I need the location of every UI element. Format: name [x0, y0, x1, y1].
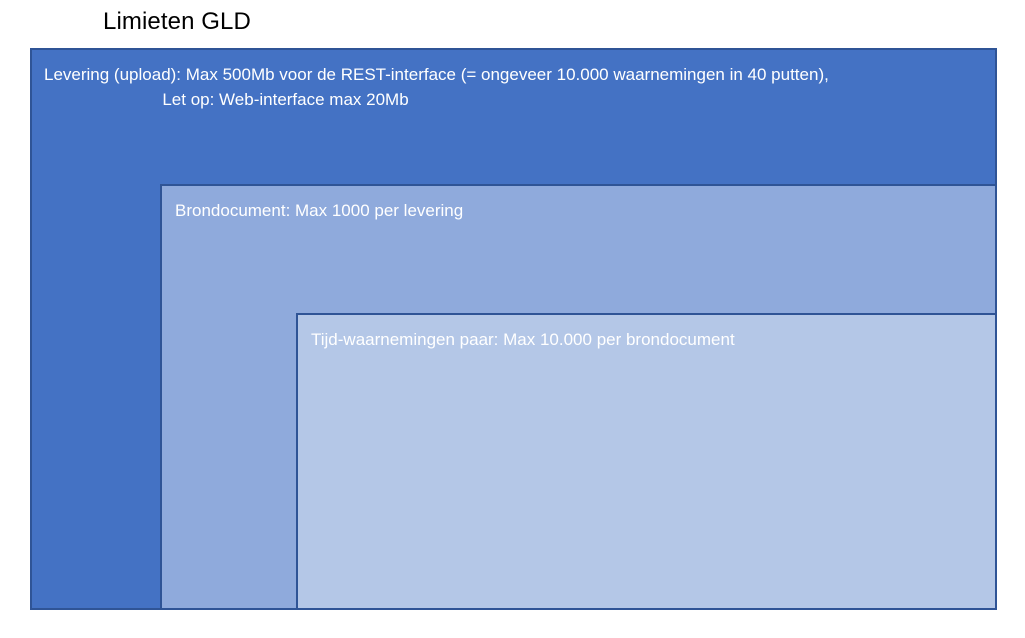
diagram-box-brondocument-label: Brondocument: Max 1000 per levering — [162, 198, 995, 223]
diagram-box-tijd-waarnemingen-paar[interactable]: Tijd-waarnemingen paar: Max 10.000 per b… — [296, 313, 997, 610]
page-title: Limieten GLD — [103, 6, 251, 38]
diagram-box-levering-label-line-2: Let op: Web-interface max 20Mb — [44, 87, 983, 112]
slide-canvas: Limieten GLD Levering (upload): Max 500M… — [0, 0, 1025, 638]
diagram-box-tijd-waarnemingen-paar-label: Tijd-waarnemingen paar: Max 10.000 per b… — [298, 327, 995, 352]
diagram-box-levering-label: Levering (upload): Max 500Mb voor de RES… — [32, 62, 995, 112]
diagram-box-levering-label-line-1: Levering (upload): Max 500Mb voor de RES… — [44, 62, 983, 87]
